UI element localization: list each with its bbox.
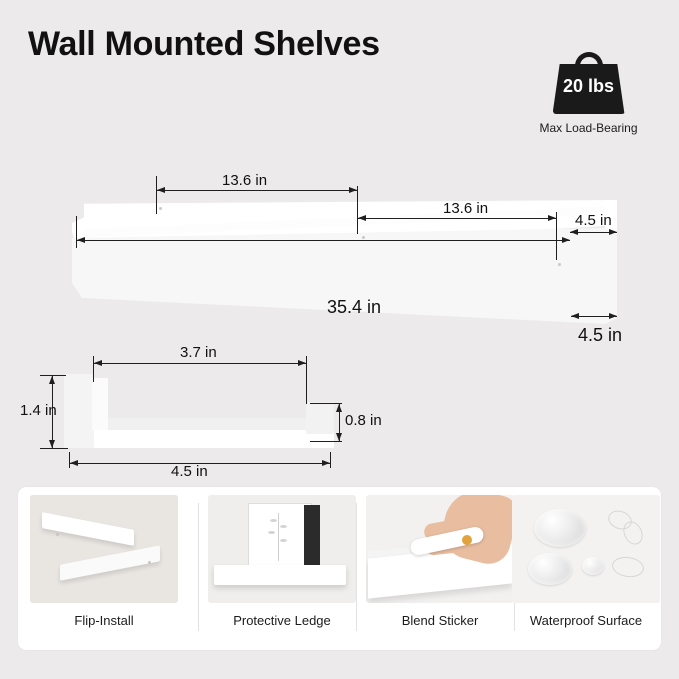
arrow-left (77, 237, 85, 243)
screw-hole-dot (558, 263, 561, 266)
arrow-left (571, 313, 579, 319)
feature-blend-sticker: Blend Sticker (366, 495, 514, 642)
dimension-line (76, 240, 570, 241)
feature-thumbnail (208, 495, 356, 603)
feature-caption: Waterproof Surface (512, 613, 660, 628)
arrow-left (570, 229, 578, 235)
arrow-up (336, 404, 342, 412)
plant-leaf (268, 531, 275, 534)
weight-icon: 20 lbs (553, 52, 625, 114)
extension-line (156, 176, 157, 214)
dimension-label: 4.5 in (578, 325, 622, 346)
water-squiggle (611, 555, 645, 579)
arrow-left (94, 360, 102, 366)
arrow-left (358, 215, 366, 221)
arrow-right (298, 360, 306, 366)
screw-hole-dot (56, 533, 59, 536)
feature-caption: Protective Ledge (208, 613, 356, 628)
water-drop (582, 557, 604, 575)
dimension-label: 4.5 in (171, 463, 208, 480)
arrow-right (562, 237, 570, 243)
flip-install-image (30, 495, 178, 603)
extension-line (330, 452, 331, 468)
extension-line (40, 448, 68, 449)
arrow-right (548, 215, 556, 221)
feature-thumbnail (512, 495, 660, 603)
dimension-label: 3.7 in (180, 344, 217, 361)
feature-flip-install: Flip-Install (30, 495, 178, 642)
extension-line (556, 212, 557, 260)
screw-hole-dot (148, 561, 151, 564)
profile-back-lip-inner (92, 378, 108, 430)
feature-thumbnail (366, 495, 514, 603)
arrow-up (49, 376, 55, 384)
arrow-right (322, 460, 330, 466)
blend-sticker-image (366, 495, 514, 603)
protective-ledge-image (208, 495, 356, 603)
dimension-label: 0.8 in (345, 412, 382, 429)
extension-line (76, 216, 77, 248)
dimension-label: 35.4 in (327, 297, 381, 318)
max-load-caption: Max Load-Bearing (516, 121, 661, 135)
profile-front-lip (306, 402, 334, 434)
feature-divider (356, 503, 357, 631)
max-load-badge: 20 lbs Max Load-Bearing (516, 52, 661, 135)
weight-value: 20 lbs (553, 76, 625, 97)
plant-leaf (280, 525, 287, 528)
arrow-left (157, 187, 165, 193)
feature-strip: Flip-Install Protective Ledge (18, 487, 661, 650)
arrow-right (609, 313, 617, 319)
feature-protective-ledge: Protective Ledge (208, 495, 356, 642)
dimension-line (357, 218, 556, 219)
dimension-line (93, 363, 306, 364)
arrow-left (70, 460, 78, 466)
dimension-label: 13.6 in (222, 172, 267, 189)
feature-caption: Blend Sticker (366, 613, 514, 628)
arrow-down (49, 440, 55, 448)
screw-hole-dot (159, 207, 162, 210)
water-drop (534, 509, 586, 547)
arrow-right (349, 187, 357, 193)
arrow-right (609, 229, 617, 235)
feature-caption: Flip-Install (30, 613, 178, 628)
profile-back-lip (64, 374, 94, 448)
plant-leaf (280, 539, 287, 542)
screw-hole-dot (362, 236, 365, 239)
profile-inner-shade (108, 418, 308, 430)
extension-line (357, 186, 358, 234)
water-drop (528, 553, 572, 585)
arrow-down (336, 433, 342, 441)
plant-stem (278, 513, 279, 561)
dimension-label: 1.4 in (20, 402, 57, 419)
page-title: Wall Mounted Shelves (28, 22, 408, 67)
waterproof-surface-image (512, 495, 660, 603)
plant-leaf (270, 519, 277, 522)
extension-line (306, 356, 307, 404)
product-spec-diagram: Wall Mounted Shelves 20 lbs Max Load-Bea… (0, 0, 679, 679)
ledge-shape (214, 565, 346, 585)
dimension-label: 4.5 in (575, 212, 612, 229)
side-profile-illustration (64, 374, 334, 448)
dimension-line (156, 190, 357, 191)
feature-waterproof-surface: Waterproof Surface (502, 495, 660, 642)
feature-divider (198, 503, 199, 631)
dimension-label: 13.6 in (443, 200, 488, 217)
feature-thumbnail (30, 495, 178, 603)
extension-line (310, 441, 342, 442)
